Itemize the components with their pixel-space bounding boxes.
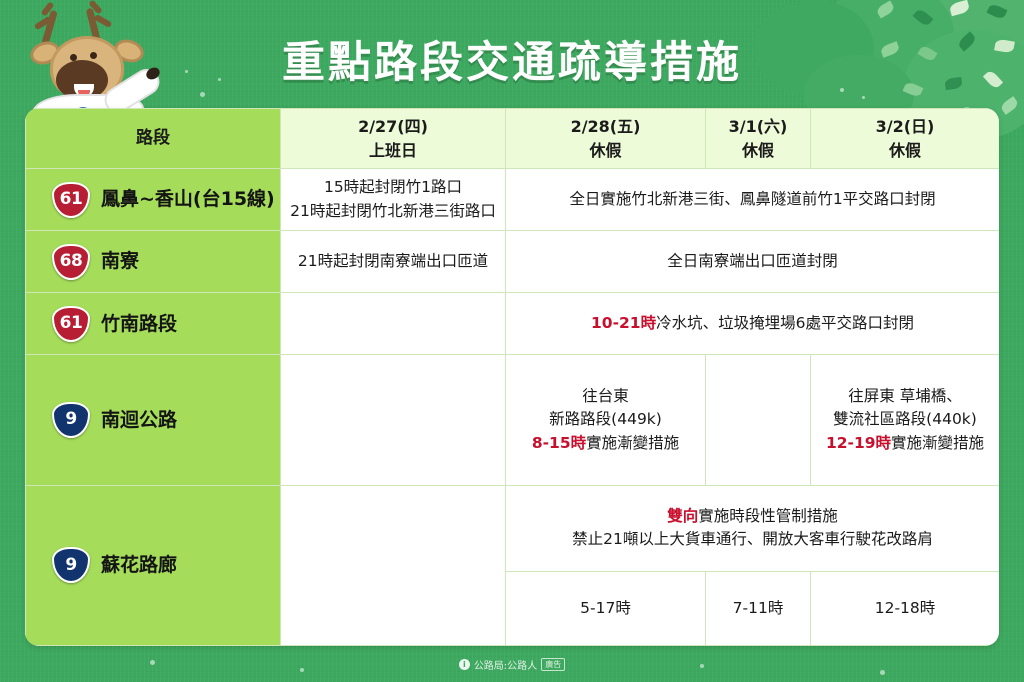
cell-r4-d2-text: 實施漸變措施 xyxy=(586,434,679,452)
date-1-sub: 上班日 xyxy=(287,139,499,163)
road-cell-nanhui: 9 南迴公路 xyxy=(26,355,281,485)
cell-r4-d2-line1: 往台東 xyxy=(512,385,699,408)
credit-tag: 廣告 xyxy=(541,658,565,671)
table-row: 9 蘇花路廊 雙向實施時段性管制措施 禁止21噸以上大貨車通行、開放大客車行駛花… xyxy=(26,485,1000,571)
cell-r4-d4: 往屏東 草埔橋、 雙流社區路段(440k) 12-19時實施漸變措施 xyxy=(811,355,1000,485)
cell-r4-d4-line2: 雙流社區路段(440k) xyxy=(817,408,993,431)
cell-r5b-d4: 12-18時 xyxy=(811,571,1000,645)
sparkle xyxy=(200,92,205,97)
route-shield-61-icon: 61 xyxy=(52,182,90,218)
cell-r4-d4-line3: 12-19時實施漸變措施 xyxy=(817,432,993,455)
cell-r4-d3 xyxy=(706,355,811,485)
cell-r2-d1: 21時起封閉南寮端出口匝道 xyxy=(281,231,506,293)
cell-r5-banner-emphasis: 雙向 xyxy=(667,507,698,525)
cell-r1-d1: 15時起封閉竹1路口 21時起封閉竹北新港三街路口 xyxy=(281,169,506,231)
table-row: 9 南迴公路 往台東 新路路段(449k) 8-15時實施漸變措施 往屏東 草埔… xyxy=(26,355,1000,485)
cell-r4-d4-time: 12-19時 xyxy=(826,434,891,452)
cell-r5-banner-line2: 禁止21噸以上大貨車通行、開放大客車行駛花改路肩 xyxy=(512,528,993,551)
route-shield-9-icon: 9 xyxy=(52,547,90,583)
cell-r4-d2-line3: 8-15時實施漸變措施 xyxy=(512,432,699,455)
cell-r4-d2-line2: 新路路段(449k) xyxy=(512,408,699,431)
road-cell-zhunan: 61 竹南路段 xyxy=(26,293,281,355)
date-4-label: 3/2(日) xyxy=(817,115,993,139)
date-3-label: 3/1(六) xyxy=(712,115,804,139)
road-name-label: 南迴公路 xyxy=(101,406,177,435)
road-name-label: 竹南路段 xyxy=(101,310,177,339)
column-header-road: 路段 xyxy=(26,109,281,169)
table-header-row: 路段 2/27(四) 上班日 2/28(五) 休假 3/1(六) 休假 xyxy=(26,109,1000,169)
road-cell-fengbi: 61 鳳鼻~香山(台15線) xyxy=(26,169,281,231)
cell-r4-d1 xyxy=(281,355,506,485)
cell-r3-d1 xyxy=(281,293,506,355)
page-title: 重點路段交通疏導措施 xyxy=(0,28,1024,90)
column-header-date-1: 2/27(四) 上班日 xyxy=(281,109,506,169)
column-header-date-2: 2/28(五) 休假 xyxy=(506,109,706,169)
cell-r5-d1 xyxy=(281,485,506,645)
cell-r1-d1-line1: 15時起封閉竹1路口 xyxy=(287,176,499,199)
route-shield-68-icon: 68 xyxy=(52,244,90,280)
cell-r3-merged: 10-21時冷水坑、垃圾掩埋場6處平交路口封閉 xyxy=(506,293,1000,355)
sparkle xyxy=(862,96,865,99)
cell-r3-time: 10-21時 xyxy=(591,314,656,332)
cell-r1-d1-line2: 21時起封閉竹北新港三街路口 xyxy=(287,200,499,223)
table-row: 61 鳳鼻~香山(台15線) 15時起封閉竹1路口 21時起封閉竹北新港三街路口… xyxy=(26,169,1000,231)
date-3-sub: 休假 xyxy=(712,139,804,163)
cell-r1-merged: 全日實施竹北新港三街、鳳鼻隧道前竹1平交路口封閉 xyxy=(506,169,1000,231)
cell-r4-d4-line1: 往屏東 草埔橋、 xyxy=(817,385,993,408)
cell-r5-banner: 雙向實施時段性管制措施 禁止21噸以上大貨車通行、開放大客車行駛花改路肩 xyxy=(506,485,1000,571)
cell-r3-text: 冷水坑、垃圾掩埋場6處平交路口封閉 xyxy=(656,314,914,332)
date-2-sub: 休假 xyxy=(512,139,699,163)
route-shield-9-icon: 9 xyxy=(52,402,90,438)
poster-root: 重點路段交通疏導措施 路段 2/27(四) 上班日 2/28(五) xyxy=(0,0,1024,682)
cell-r2-merged: 全日南寮端出口匝道封閉 xyxy=(506,231,1000,293)
measures-table-card: 路段 2/27(四) 上班日 2/28(五) 休假 3/1(六) 休假 xyxy=(25,108,999,646)
table-row: 61 竹南路段 10-21時冷水坑、垃圾掩埋場6處平交路口封閉 xyxy=(26,293,1000,355)
cell-r4-d4-text: 實施漸變措施 xyxy=(891,434,984,452)
cell-r5-banner-text: 實施時段性管制措施 xyxy=(698,507,838,525)
cell-r5b-d2: 5-17時 xyxy=(506,571,706,645)
cell-r4-d2: 往台東 新路路段(449k) 8-15時實施漸變措施 xyxy=(506,355,706,485)
road-cell-nanliao: 68 南寮 xyxy=(26,231,281,293)
road-name-label: 南寮 xyxy=(101,247,139,276)
cell-r5b-d3: 7-11時 xyxy=(706,571,811,645)
column-header-date-3: 3/1(六) 休假 xyxy=(706,109,811,169)
date-1-label: 2/27(四) xyxy=(287,115,499,139)
date-2-label: 2/28(五) xyxy=(512,115,699,139)
route-shield-61-icon: 61 xyxy=(52,306,90,342)
measures-table: 路段 2/27(四) 上班日 2/28(五) 休假 3/1(六) 休假 xyxy=(25,108,999,646)
cell-r4-d2-time: 8-15時 xyxy=(532,434,586,452)
road-cell-suhua: 9 蘇花路廊 xyxy=(26,485,281,645)
info-icon: i xyxy=(459,659,470,670)
table-row: 68 南寮 21時起封閉南寮端出口匝道 全日南寮端出口匝道封閉 xyxy=(26,231,1000,293)
footer-credit: i 公路局:公路人 廣告 xyxy=(0,657,1024,672)
road-name-label: 鳳鼻~香山(台15線) xyxy=(101,185,275,214)
cell-r5-banner-line1: 雙向實施時段性管制措施 xyxy=(512,505,993,528)
date-4-sub: 休假 xyxy=(817,139,993,163)
credit-text: 公路局:公路人 xyxy=(474,657,537,672)
column-header-date-4: 3/2(日) 休假 xyxy=(811,109,1000,169)
road-name-label: 蘇花路廊 xyxy=(101,551,177,580)
column-header-road-label: 路段 xyxy=(136,128,170,148)
